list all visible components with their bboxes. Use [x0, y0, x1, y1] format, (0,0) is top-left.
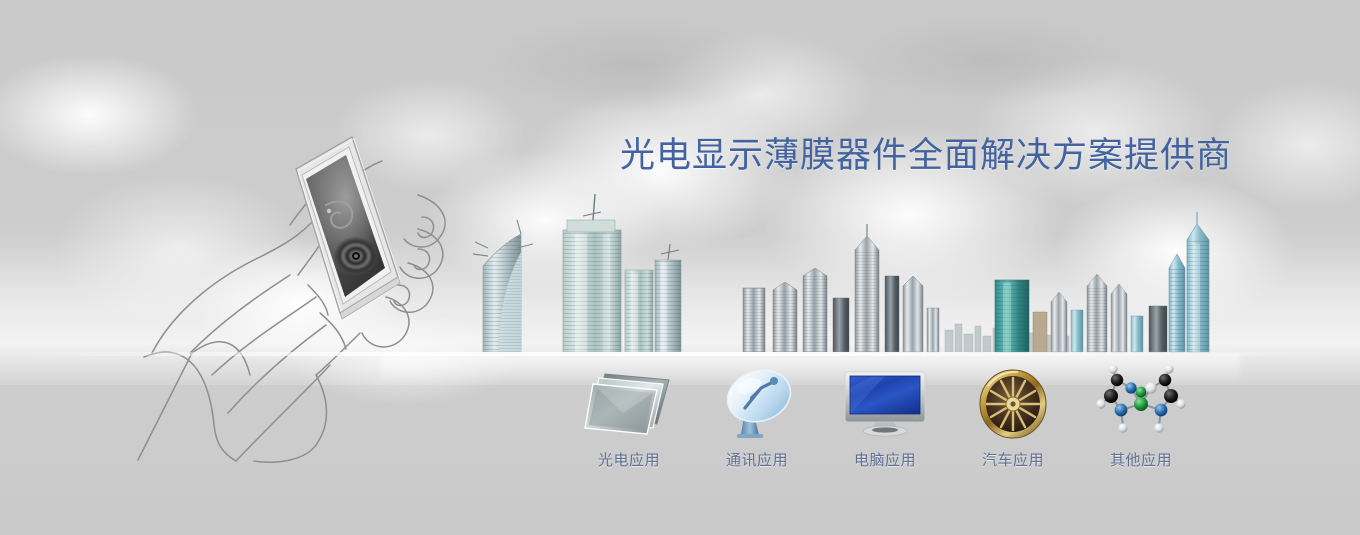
- page-title: 光电显示薄膜器件全面解决方案提供商: [620, 139, 1232, 174]
- teal-tower-icon: [995, 280, 1029, 352]
- atom-hydrogen-icon: [1176, 399, 1185, 408]
- application-list: 光电应用: [565, 355, 1205, 470]
- mid-tower-icon: [655, 244, 681, 352]
- application-item-optoelectronic[interactable]: 光电应用: [565, 368, 693, 470]
- molecule-model-icon: [1093, 368, 1189, 440]
- glass-film-panels-icon: [583, 368, 675, 440]
- atom-green-icon: [1136, 387, 1147, 398]
- finger-icon: [404, 195, 445, 247]
- finger-icon: [362, 297, 409, 347]
- atom-blue-icon: [1155, 404, 1168, 417]
- atom-black-icon: [1159, 374, 1171, 386]
- mid-tower-icon: [625, 270, 653, 352]
- car-wheel-rim-icon: [974, 368, 1052, 440]
- main-tower-icon: [563, 194, 621, 352]
- hand-holding-phone-illustration: [130, 125, 480, 495]
- sail-tower-icon: [473, 220, 533, 352]
- application-item-computer[interactable]: 电脑应用: [821, 368, 949, 470]
- application-label: 汽车应用: [982, 449, 1044, 470]
- computer-monitor-icon: [839, 368, 931, 440]
- atom-hydrogen-icon: [1154, 423, 1163, 432]
- atom-hydrogen-icon: [1096, 399, 1105, 408]
- atom-hydrogen-icon: [1108, 366, 1117, 374]
- screen-dot-icon: [327, 209, 331, 213]
- palm-crease-icon: [212, 297, 316, 375]
- sleeve-line-icon: [138, 353, 192, 460]
- palm-crease-icon: [236, 365, 330, 461]
- monitor-led-icon: [913, 417, 919, 419]
- application-label: 其他应用: [1110, 449, 1172, 470]
- cyan-tower-icon: [1149, 212, 1209, 352]
- dish-base-icon: [737, 434, 763, 438]
- wrist-line-icon: [192, 342, 250, 375]
- atom-white-icon: [1145, 382, 1156, 393]
- palm-crease-icon: [190, 275, 290, 353]
- fingernail-icon: [394, 285, 410, 306]
- city-skyline: [455, 190, 1215, 360]
- atom-hydrogen-icon: [1164, 366, 1173, 374]
- application-item-automotive[interactable]: 汽车应用: [949, 368, 1077, 470]
- fingernail-icon: [418, 217, 434, 238]
- application-item-other[interactable]: 其他应用: [1077, 368, 1205, 470]
- application-item-communication[interactable]: 通讯应用: [693, 368, 821, 470]
- atom-black-icon: [1111, 374, 1123, 386]
- hand-lower-edge-icon: [254, 375, 327, 462]
- atom-hydrogen-icon: [1118, 423, 1127, 432]
- application-label: 通讯应用: [726, 449, 788, 470]
- hero-banner: 光电显示薄膜器件全面解决方案提供商: [0, 0, 1360, 535]
- screen-ripple-core-icon: [354, 254, 358, 258]
- palm-crease-icon: [228, 325, 326, 413]
- application-label: 光电应用: [598, 449, 660, 470]
- application-label: 电脑应用: [854, 449, 916, 470]
- dish-plate-icon: [721, 366, 797, 430]
- atom-black-icon: [1164, 389, 1178, 403]
- sleeve-cuff-icon: [144, 352, 236, 461]
- atom-blue-icon: [1125, 382, 1136, 393]
- satellite-dish-icon: [715, 368, 799, 440]
- skyline-cluster-icon: [743, 224, 939, 352]
- atom-green-icon: [1134, 397, 1148, 411]
- dish-lnb-icon: [770, 377, 778, 385]
- atom-blue-icon: [1115, 404, 1128, 417]
- smartphone-icon: [296, 133, 400, 321]
- palm-outline-icon: [152, 205, 326, 353]
- atom-black-icon: [1104, 389, 1118, 403]
